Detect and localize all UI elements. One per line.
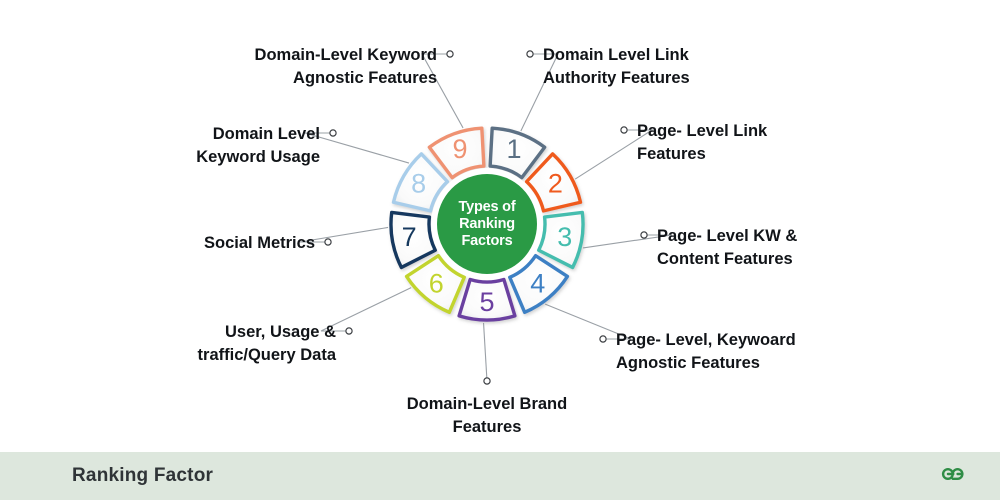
callout-label-7-line-1: Social Metrics [204,234,315,252]
callout-label-6-line-2: traffic/Query Data [198,346,337,364]
callout-label-5-line-2: Features [453,418,522,436]
callout-label-2-line-2: Features [637,145,706,163]
leader-dot-3 [641,232,647,238]
callout-label-6-line-1: User, Usage & [225,323,336,341]
leader-dot-6 [346,328,352,334]
slice-number-4: 4 [530,269,545,299]
leader-line-1 [521,54,558,131]
callout-label-9-line-1: Domain-Level Keyword [255,46,437,64]
geeksforgeeks-logo[interactable] [938,461,972,492]
leader-line-5 [484,323,487,381]
slice-number-3: 3 [557,222,572,252]
center-line-3: Factors [462,233,513,249]
callout-label-2-line-1: Page- Level Link [637,122,768,140]
leader-dot-5 [484,378,490,384]
callout-label-1-line-1: Domain Level Link [543,46,690,64]
leader-dot-7 [325,239,331,245]
leader-dot-4 [600,336,606,342]
callout-label-8-line-2: Keyword Usage [196,148,320,166]
callout-label-5-line-1: Domain-Level Brand [407,395,567,413]
footer-title: Ranking Factor [72,465,213,487]
geeksforgeeks-logo-icon [938,461,972,487]
leader-line-8 [305,133,409,163]
center-line-2: Ranking [459,216,515,232]
callout-label-4-line-1: Page- Level, Keywoard [616,331,796,349]
callout-label-3-line-1: Page- Level KW & [657,227,797,245]
slice-number-9: 9 [452,134,467,164]
diagram-stage: 123456789 Types of Ranking Factors Domai… [0,0,1000,500]
slice-number-8: 8 [411,169,426,199]
callout-label-3-line-2: Content Features [657,250,793,268]
slice-number-1: 1 [507,134,522,164]
leader-dot-8 [330,130,336,136]
slice-number-6: 6 [429,269,444,299]
center-line-1: Types of [459,199,516,215]
callout-label-4-line-2: Agnostic Features [616,354,760,372]
slice-number-7: 7 [402,222,417,252]
leader-dot-1 [527,51,533,57]
leader-dot-2 [621,127,627,133]
callout-label-1-line-2: Authority Features [543,69,690,87]
slice-number-2: 2 [548,169,563,199]
callout-label-9-line-2: Agnostic Features [293,69,437,87]
callout-label-8-line-1: Domain Level [213,125,320,143]
leader-dot-9 [447,51,453,57]
leader-line-9 [422,54,463,128]
slice-number-5: 5 [479,287,494,317]
ranking-factors-donut-diagram: 123456789 Types of Ranking Factors Domai… [0,0,1000,452]
center-hub: Types of Ranking Factors [431,168,543,280]
footer-bar: Ranking Factor [0,452,1000,500]
